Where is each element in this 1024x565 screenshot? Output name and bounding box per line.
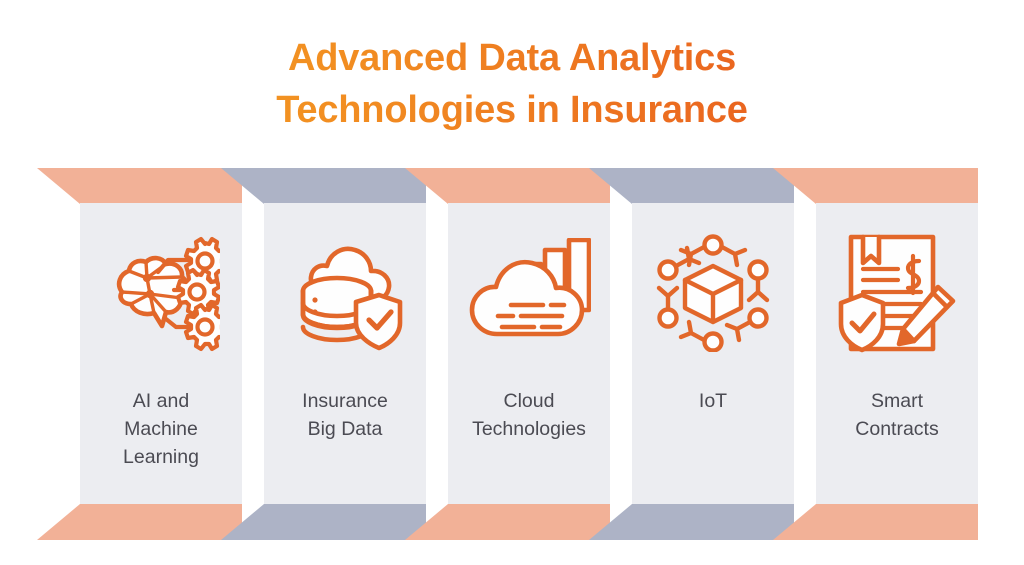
chevron-top-band — [221, 168, 426, 204]
chevron-bottom-band — [221, 504, 426, 540]
chevron-bottom-band — [405, 504, 610, 540]
chevron-top-band — [37, 168, 242, 204]
chevron-panel-cloud-technologies[interactable] — [405, 168, 610, 540]
chevron-panel-ai-machine-learning[interactable] — [37, 168, 242, 540]
chevron-body — [816, 203, 978, 505]
chevron-body — [80, 203, 242, 505]
chevron-bottom-band — [589, 504, 794, 540]
chevron-panel-iot[interactable] — [589, 168, 794, 540]
chevron-body — [448, 203, 610, 505]
chevron-row: AI and Machine Learning — [0, 168, 1024, 540]
chevron-panel-insurance-big-data[interactable] — [221, 168, 426, 540]
chevron-body — [264, 203, 426, 505]
chevron-panel-smart-contracts[interactable] — [773, 168, 978, 540]
chevron-top-band — [589, 168, 794, 204]
chevron-bottom-band — [37, 504, 242, 540]
chevron-bottom-band — [773, 504, 978, 540]
title-line-1: Advanced Data Analytics — [0, 32, 1024, 84]
title-line-2: Technologies in Insurance — [0, 84, 1024, 136]
chevron-top-band — [773, 168, 978, 204]
chevron-body — [632, 203, 794, 505]
infographic-canvas: Advanced Data Analytics Technologies in … — [0, 0, 1024, 565]
page-title: Advanced Data Analytics Technologies in … — [0, 32, 1024, 136]
chevron-top-band — [405, 168, 610, 204]
